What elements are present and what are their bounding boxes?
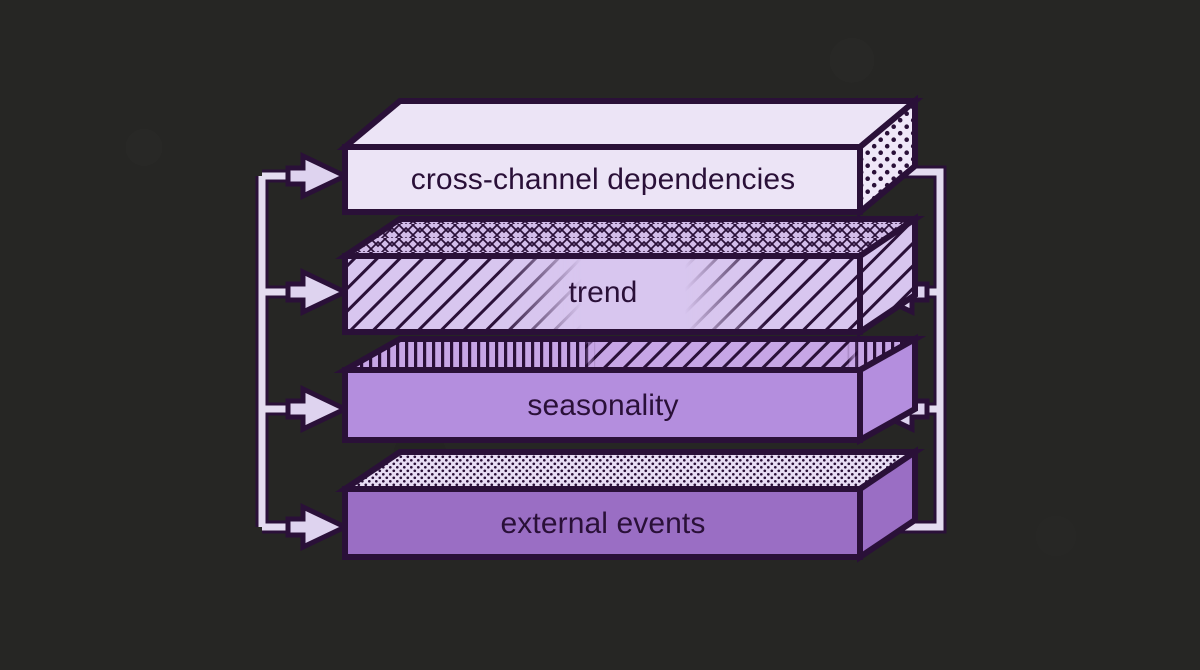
external-events-label: external events (501, 507, 706, 540)
layer-seasonality[interactable]: seasonality (345, 339, 915, 440)
diagram-canvas: external events seasonality trend cross-… (0, 0, 1200, 670)
layer-trend[interactable]: trend (345, 219, 915, 332)
trend-top-face (345, 219, 915, 256)
seasonality-top-face-diagonal-overlay (345, 339, 915, 370)
cross-channel-top-face (345, 101, 915, 147)
external-events-top-face (345, 452, 915, 489)
seasonality-label: seasonality (527, 389, 678, 422)
trend-label: trend (569, 276, 638, 309)
layer-stack-diagram: external events seasonality trend cross-… (0, 0, 1200, 670)
input-arrowhead-seasonality (288, 389, 345, 429)
input-bus (262, 156, 345, 547)
layer-cross-channel-dependencies[interactable]: cross-channel dependencies (345, 101, 915, 212)
input-arrowhead-trend (288, 272, 345, 312)
input-arrowhead-external-events (288, 507, 345, 547)
input-arrowhead-cross-channel (288, 156, 345, 196)
cross-channel-label: cross-channel dependencies (411, 163, 796, 196)
layer-external-events[interactable]: external events (345, 452, 915, 557)
